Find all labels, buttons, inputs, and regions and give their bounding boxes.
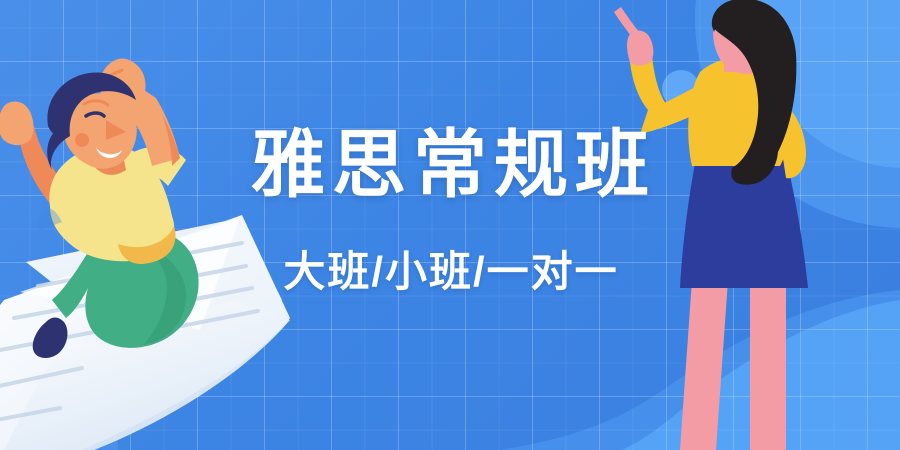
man-far-fist (0, 102, 33, 146)
ielts-course-banner: 雅思常规班 大班/小班/一对一 (0, 0, 900, 450)
man-ear (75, 133, 89, 147)
woman-index-finger (614, 7, 640, 36)
woman-right-leg (750, 280, 786, 450)
woman-left-leg (680, 280, 728, 450)
man-on-paper-plane-illustration (0, 0, 310, 450)
woman-pointing-illustration (600, 0, 900, 450)
